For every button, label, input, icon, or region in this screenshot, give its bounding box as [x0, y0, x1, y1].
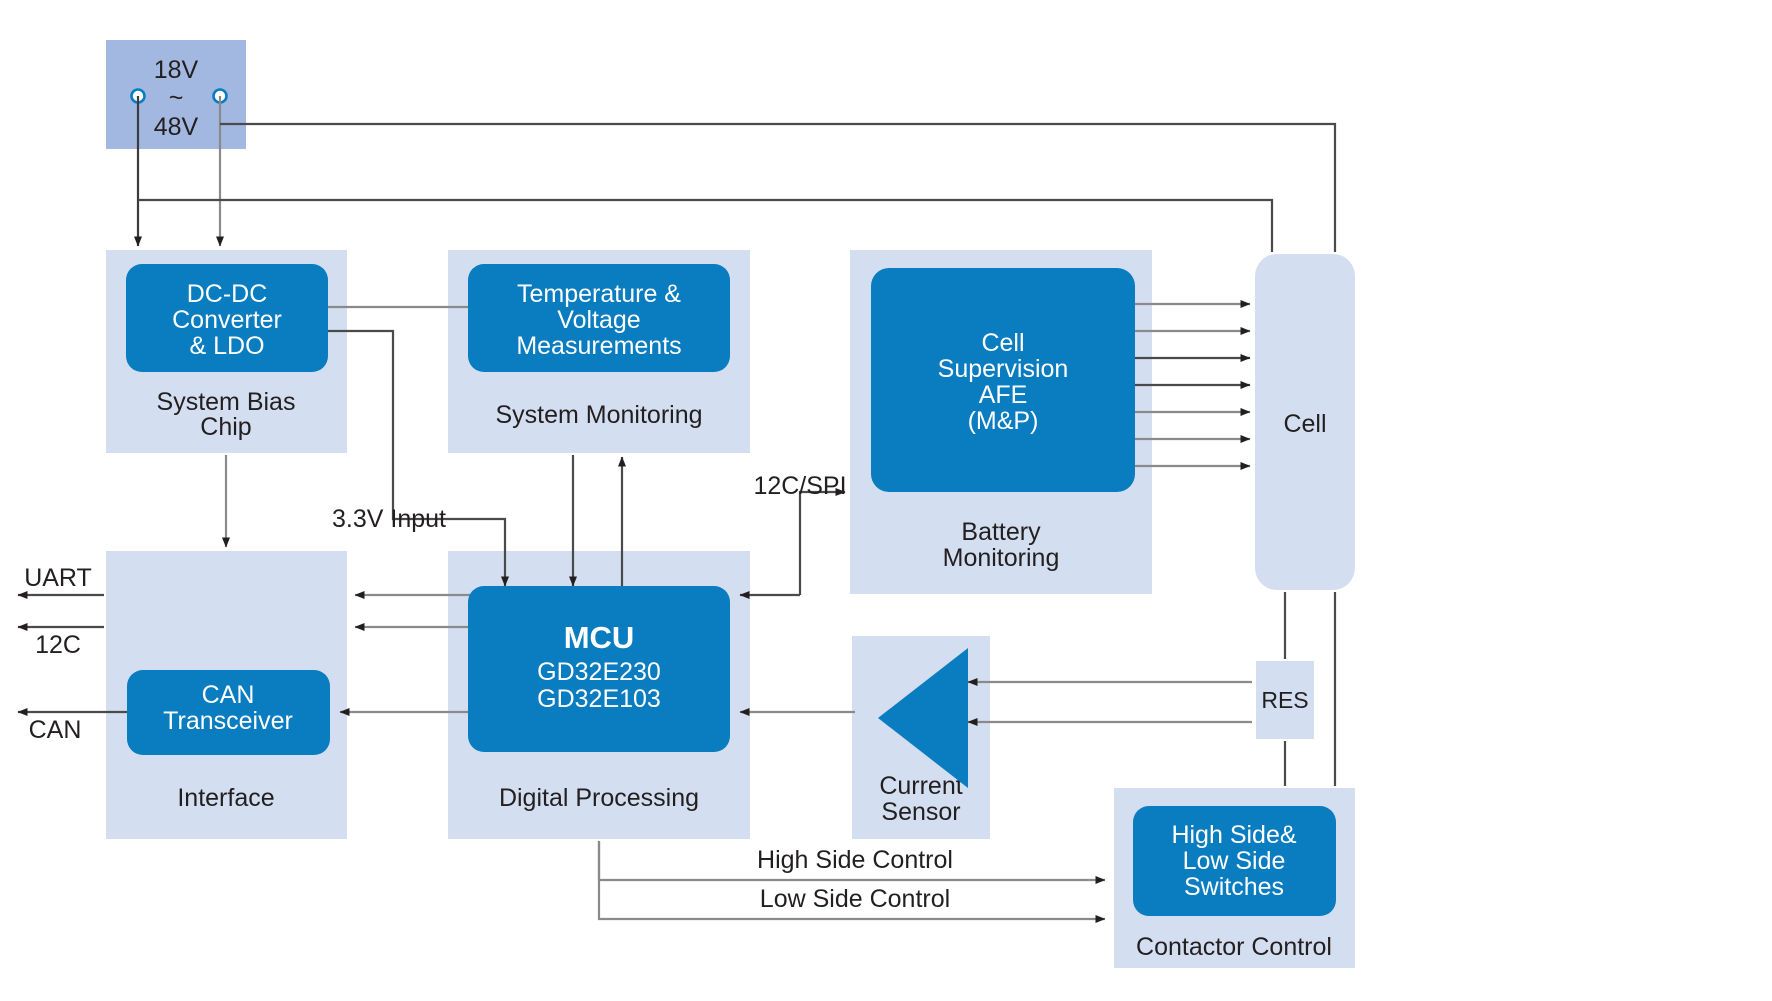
power-source-label-line2: ~	[169, 84, 184, 112]
wire-label-uart: UART	[24, 564, 92, 592]
wire-label-high-side-control: High Side Control	[757, 846, 953, 874]
wire-power-to-cell-secondary	[138, 200, 1272, 252]
mcu-block[interactable]: MCU GD32E230 GD32E103	[468, 586, 730, 752]
dcdc-label-line3: & LDO	[189, 332, 264, 360]
group-label-system-bias-chip-line1: System Bias	[157, 388, 296, 416]
res-label: RES	[1261, 687, 1308, 713]
high-low-side-switches-block[interactable]: High Side& Low Side Switches	[1133, 806, 1336, 916]
cell-supervision-afe-block[interactable]: Cell Supervision AFE (M&P)	[871, 268, 1135, 492]
wire-label-i2c-spi: 12C/SPI	[753, 472, 846, 500]
mcu-part-number-1: GD32E230	[537, 658, 661, 686]
dcdc-converter-block[interactable]: DC-DC Converter & LDO	[126, 264, 328, 372]
group-label-digital-processing: Digital Processing	[499, 784, 699, 812]
dcdc-label-line1: DC-DC	[187, 280, 268, 308]
wire-mcu-to-afe-i2cspi	[800, 492, 845, 595]
wire-label-33v-input: 3.3V Input	[332, 505, 446, 533]
power-source-block[interactable]: 18V ~ 48V	[106, 40, 246, 149]
group-label-interface: Interface	[177, 784, 274, 812]
wire-power-to-cell	[220, 124, 1335, 252]
group-label-system-bias-chip-line2: Chip	[200, 413, 251, 441]
power-source-label-line3: 48V	[154, 113, 199, 141]
temp-volt-label-line1: Temperature &	[517, 280, 681, 308]
afe-label-line3: AFE	[979, 381, 1028, 409]
temperature-voltage-measurements-block[interactable]: Temperature & Voltage Measurements	[468, 264, 730, 372]
res-block[interactable]: RES	[1256, 661, 1314, 739]
diagram-svg: System Bias Chip System Monitoring Batte…	[0, 0, 1772, 1001]
group-label-battery-monitoring-line2: Monitoring	[943, 544, 1060, 572]
wire-label-can: CAN	[29, 716, 82, 744]
switches-label-line1: High Side&	[1171, 821, 1296, 849]
block-diagram-canvas: System Bias Chip System Monitoring Batte…	[0, 0, 1772, 1001]
mcu-title: MCU	[564, 620, 635, 655]
afe-to-cell-taps	[1135, 304, 1250, 466]
group-label-system-monitoring: System Monitoring	[495, 401, 702, 429]
afe-label-line1: Cell	[981, 329, 1024, 357]
group-label-current-sensor-line2: Sensor	[881, 798, 960, 826]
temp-volt-label-line3: Measurements	[516, 332, 681, 360]
power-source-label-line1: 18V	[154, 56, 199, 84]
can-transceiver-label-line2: Transceiver	[163, 707, 293, 735]
switches-label-line3: Switches	[1184, 873, 1284, 901]
can-transceiver-label-line1: CAN	[202, 681, 255, 709]
temp-volt-label-line2: Voltage	[557, 306, 640, 334]
mcu-part-number-2: GD32E103	[537, 685, 661, 713]
can-transceiver-block[interactable]: CAN Transceiver	[127, 670, 330, 755]
wire-label-i2c: 12C	[35, 631, 81, 659]
afe-label-line4: (M&P)	[968, 407, 1039, 435]
cell-block[interactable]: Cell	[1255, 254, 1355, 590]
group-label-current-sensor-line1: Current	[879, 772, 962, 800]
group-label-battery-monitoring-line1: Battery	[961, 518, 1041, 546]
group-label-contactor-control: Contactor Control	[1136, 933, 1332, 961]
switches-label-line2: Low Side	[1183, 847, 1286, 875]
wire-label-low-side-control: Low Side Control	[760, 885, 950, 913]
dcdc-label-line2: Converter	[172, 306, 282, 334]
cell-label: Cell	[1283, 410, 1326, 438]
afe-label-line2: Supervision	[938, 355, 1069, 383]
